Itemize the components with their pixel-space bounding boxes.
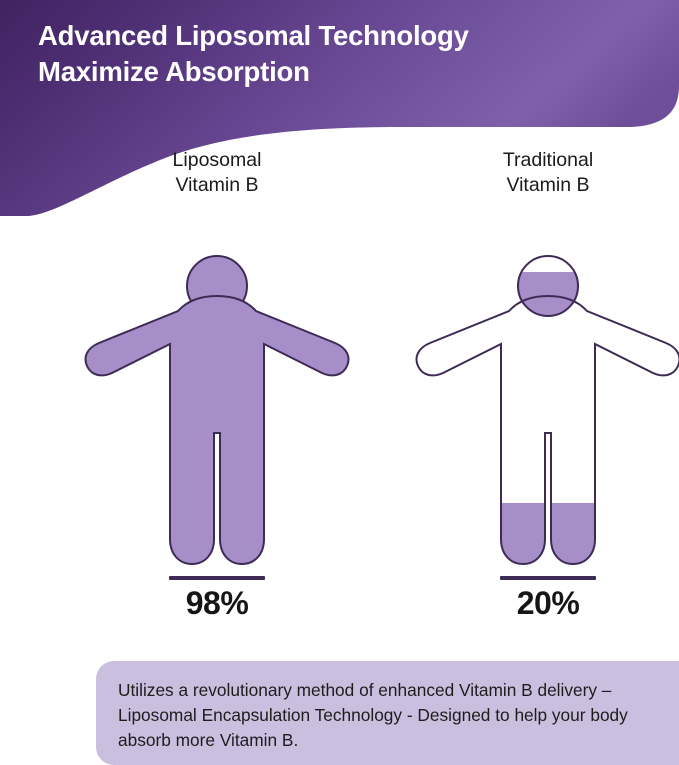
column-label-traditional: Traditional Vitamin B [418, 148, 678, 198]
column-label-traditional-line-2: Vitamin B [418, 173, 678, 198]
figure-traditional [413, 225, 679, 575]
column-label-liposomal: Liposomal Vitamin B [87, 148, 347, 198]
caption-box: Utilizes a revolutionary method of enhan… [96, 661, 679, 765]
percent-block-liposomal: 98% [87, 576, 347, 621]
percent-rule-liposomal [169, 576, 265, 580]
body-fill-traditional [417, 296, 679, 564]
infographic-root: Advanced Liposomal Technology Maximize A… [0, 0, 679, 765]
person-pictogram-liposomal-icon [82, 225, 352, 575]
body-fill-liposomal [86, 296, 349, 564]
body-outline-traditional [417, 296, 679, 564]
percent-value-traditional: 20% [418, 586, 678, 621]
column-label-liposomal-line-1: Liposomal [87, 148, 347, 173]
percent-block-traditional: 20% [418, 576, 678, 621]
page-title-line-1: Advanced Liposomal Technology [38, 18, 638, 54]
column-label-traditional-line-1: Traditional [418, 148, 678, 173]
percent-value-liposomal: 98% [87, 586, 347, 621]
column-label-liposomal-line-2: Vitamin B [87, 173, 347, 198]
percent-rule-traditional [500, 576, 596, 580]
page-title: Advanced Liposomal Technology Maximize A… [38, 18, 638, 91]
caption-text: Utilizes a revolutionary method of enhan… [118, 678, 674, 753]
figure-liposomal [82, 225, 352, 575]
person-pictogram-traditional-icon [413, 225, 679, 575]
page-title-line-2: Maximize Absorption [38, 54, 638, 90]
